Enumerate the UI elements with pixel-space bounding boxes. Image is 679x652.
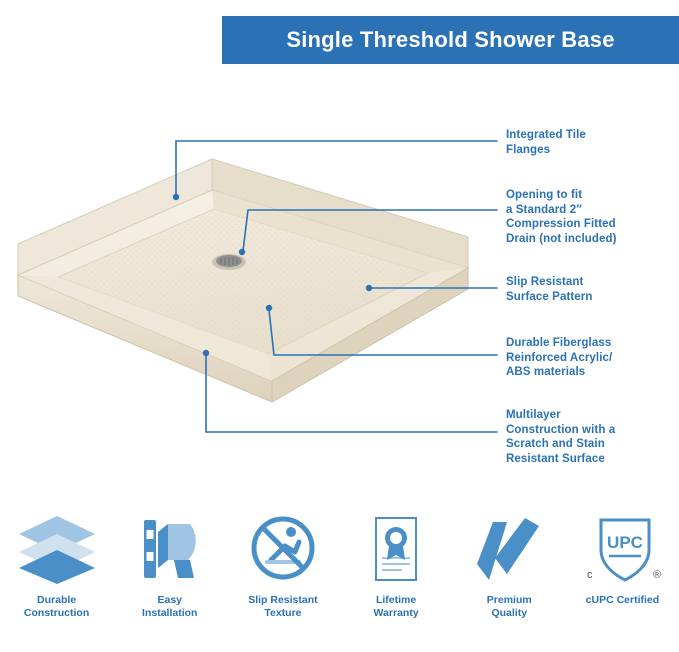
callout-integrated-tile-flanges: Integrated Tile Flanges xyxy=(506,128,656,157)
callout-line: Slip Resistant xyxy=(506,275,656,290)
level-tool-icon xyxy=(125,508,215,590)
callout-line: Flanges xyxy=(506,143,656,158)
page-title-bar: Single Threshold Shower Base xyxy=(222,16,679,64)
caption-line: Easy xyxy=(122,594,218,607)
callout-line: Durable Fiberglass xyxy=(506,336,666,351)
feature-caption: Premium Quality xyxy=(461,594,557,619)
feature-caption: cUPC Certified xyxy=(574,594,670,607)
callout-line: Construction with a xyxy=(506,423,666,438)
certificate-icon xyxy=(351,508,441,590)
caption-line: cUPC Certified xyxy=(574,594,670,607)
feature-caption: Lifetime Warranty xyxy=(348,594,444,619)
caption-line: Construction xyxy=(9,607,105,620)
caption-line: Slip Resistant xyxy=(235,594,331,607)
caption-line: Warranty xyxy=(348,607,444,620)
no-slip-icon xyxy=(238,508,328,590)
svg-text:®: ® xyxy=(653,569,661,581)
feature-caption: Durable Construction xyxy=(9,594,105,619)
callout-slip-resistant-surface: Slip Resistant Surface Pattern xyxy=(506,275,656,304)
caption-line: Quality xyxy=(461,607,557,620)
callout-line: Scratch and Stain xyxy=(506,437,666,452)
feature-lifetime-warranty: Lifetime Warranty xyxy=(340,508,453,652)
feature-premium-quality: Premium Quality xyxy=(453,508,566,652)
callout-line: ABS materials xyxy=(506,365,666,380)
feature-slip-resistant-texture: Slip Resistant Texture xyxy=(226,508,339,652)
feature-badges-row: Durable Construction Easy Installation xyxy=(0,508,679,652)
callout-line: Surface Pattern xyxy=(506,290,656,305)
svg-text:c: c xyxy=(587,569,593,581)
callout-drain-opening: Opening to fit a Standard 2″ Compression… xyxy=(506,188,666,246)
callout-line: Reinforced Acrylic/ xyxy=(506,351,666,366)
feature-easy-installation: Easy Installation xyxy=(113,508,226,652)
callout-line: Opening to fit xyxy=(506,188,666,203)
callout-line: Compression Fitted xyxy=(506,217,666,232)
feature-caption: Easy Installation xyxy=(122,594,218,619)
callout-line: Integrated Tile xyxy=(506,128,656,143)
caption-line: Durable xyxy=(9,594,105,607)
feature-durable-construction: Durable Construction xyxy=(0,508,113,652)
callout-fiberglass-acrylic: Durable Fiberglass Reinforced Acrylic/ A… xyxy=(506,336,666,380)
feature-caption: Slip Resistant Texture xyxy=(235,594,331,619)
callout-line: Multilayer xyxy=(506,408,666,423)
feature-cupc-certified: UPC c ® cUPC Certified xyxy=(566,508,679,652)
diagram-canvas: Single Threshold Shower Base Integrated … xyxy=(0,0,679,652)
callout-line: Drain (not included) xyxy=(506,232,666,247)
callout-multilayer-construction: Multilayer Construction with a Scratch a… xyxy=(506,408,666,466)
caption-line: Texture xyxy=(235,607,331,620)
callout-line: a Standard 2″ xyxy=(506,203,666,218)
page-title: Single Threshold Shower Base xyxy=(286,27,614,53)
caption-line: Lifetime xyxy=(348,594,444,607)
layers-icon xyxy=(12,508,102,590)
checkmark-ribbon-icon xyxy=(464,508,554,590)
caption-line: Premium xyxy=(461,594,557,607)
caption-line: Installation xyxy=(122,607,218,620)
upc-shield-icon: UPC c ® xyxy=(577,508,667,590)
svg-text:UPC: UPC xyxy=(607,533,643,552)
callout-line: Resistant Surface xyxy=(506,452,666,467)
